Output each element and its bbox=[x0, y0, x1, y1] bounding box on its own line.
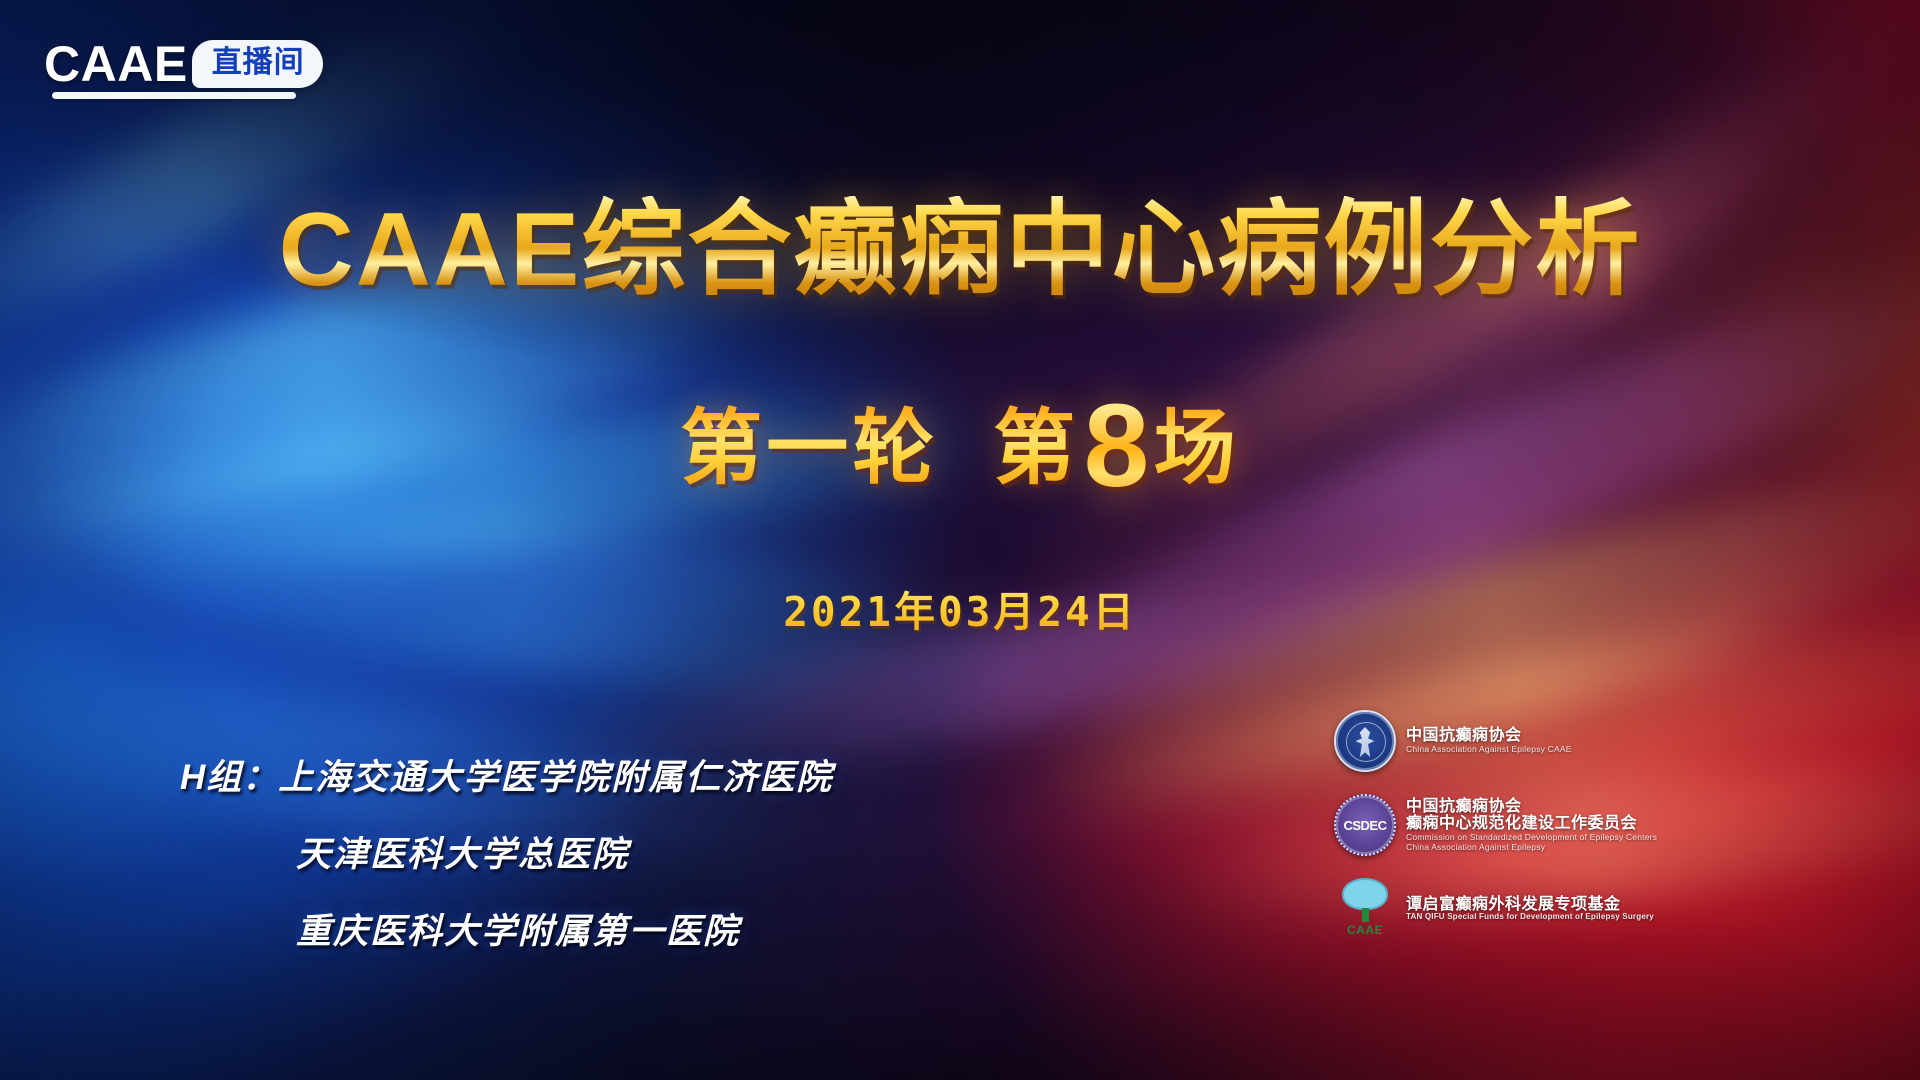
logo-text: 中国抗癫痫协会 China Association Against Epilep… bbox=[1406, 727, 1572, 754]
logo-row: CAAE 谭启富癫痫外科发展专项基金 TAN QIFU Special Fund… bbox=[1334, 878, 1734, 940]
brain-shape: CAAE bbox=[1334, 878, 1396, 940]
event-date: 2021年03月24日 bbox=[0, 578, 1920, 638]
logo-text: 谭启富癫痫外科发展专项基金 TAN QIFU Special Funds for… bbox=[1406, 896, 1654, 923]
logo-name-cn-2: 癫痫中心规范化建设工作委员会 bbox=[1406, 815, 1657, 833]
logo-name-cn: 中国抗癫痫协会 bbox=[1406, 798, 1657, 816]
group-row: 天津医科大学总医院 bbox=[180, 837, 833, 872]
round-part3: 场 bbox=[1154, 381, 1240, 500]
logo-name-cn: 中国抗癫痫协会 bbox=[1406, 727, 1572, 745]
round-part1: 第一轮 bbox=[680, 381, 938, 500]
group-hospital: 天津医科大学总医院 bbox=[296, 835, 629, 874]
group-list: H组：上海交通大学医学院附属仁济医院 天津医科大学总医院 重庆医科大学附属第一医… bbox=[180, 760, 833, 991]
brand-lockup: CAAE 直播间 bbox=[44, 28, 323, 100]
logo-name-en-2: China Association Against Epilepsy bbox=[1406, 843, 1657, 853]
logo-name-cn: 谭启富癫痫外科发展专项基金 bbox=[1406, 896, 1654, 914]
seal-blue-shape bbox=[1334, 710, 1396, 772]
logo-name-en: China Association Against Epilepsy CAAE bbox=[1406, 745, 1572, 755]
csdec-seal-icon: CSDEC bbox=[1334, 794, 1396, 856]
brand-name: CAAE bbox=[44, 39, 194, 89]
group-label: H组： bbox=[180, 758, 278, 797]
caae-seal-icon bbox=[1334, 710, 1396, 772]
logo-name-en: TAN QIFU Special Funds for Development o… bbox=[1406, 913, 1654, 922]
logo-row: CSDEC 中国抗癫痫协会 癫痫中心规范化建设工作委员会 Commission … bbox=[1334, 794, 1734, 856]
logo-text: 中国抗癫痫协会 癫痫中心规范化建设工作委员会 Commission on Sta… bbox=[1406, 798, 1657, 853]
group-row: H组：上海交通大学医学院附属仁济医院 bbox=[180, 760, 833, 795]
group-row: 重庆医科大学附属第一医院 bbox=[180, 914, 833, 949]
brain-blob bbox=[1342, 878, 1388, 910]
logo-stack: 中国抗癫痫协会 China Association Against Epilep… bbox=[1334, 710, 1734, 962]
poster-canvas: CAAE 直播间 CAAE综合癫痫中心病例分析 第一轮 第 8 场 2021年0… bbox=[0, 0, 1920, 1080]
brain-caae-icon: CAAE bbox=[1334, 878, 1396, 940]
round-line: 第一轮 第 8 场 bbox=[0, 368, 1920, 504]
page-title: CAAE综合癫痫中心病例分析 bbox=[0, 196, 1920, 305]
seal-purple-shape: CSDEC bbox=[1334, 794, 1396, 856]
group-hospital: 上海交通大学医学院附属仁济医院 bbox=[278, 758, 833, 797]
logo-row: 中国抗癫痫协会 China Association Against Epilep… bbox=[1334, 710, 1734, 772]
round-part2: 第 bbox=[993, 381, 1079, 500]
seal-emblem bbox=[1352, 727, 1378, 757]
brain-stem bbox=[1362, 908, 1369, 922]
brand-underline bbox=[52, 92, 296, 99]
round-number: 8 bbox=[1084, 378, 1150, 514]
group-hospital: 重庆医科大学附属第一医院 bbox=[296, 912, 740, 951]
brain-mark-label: CAAE bbox=[1347, 923, 1383, 937]
brand-live-badge: 直播间 bbox=[192, 40, 323, 88]
